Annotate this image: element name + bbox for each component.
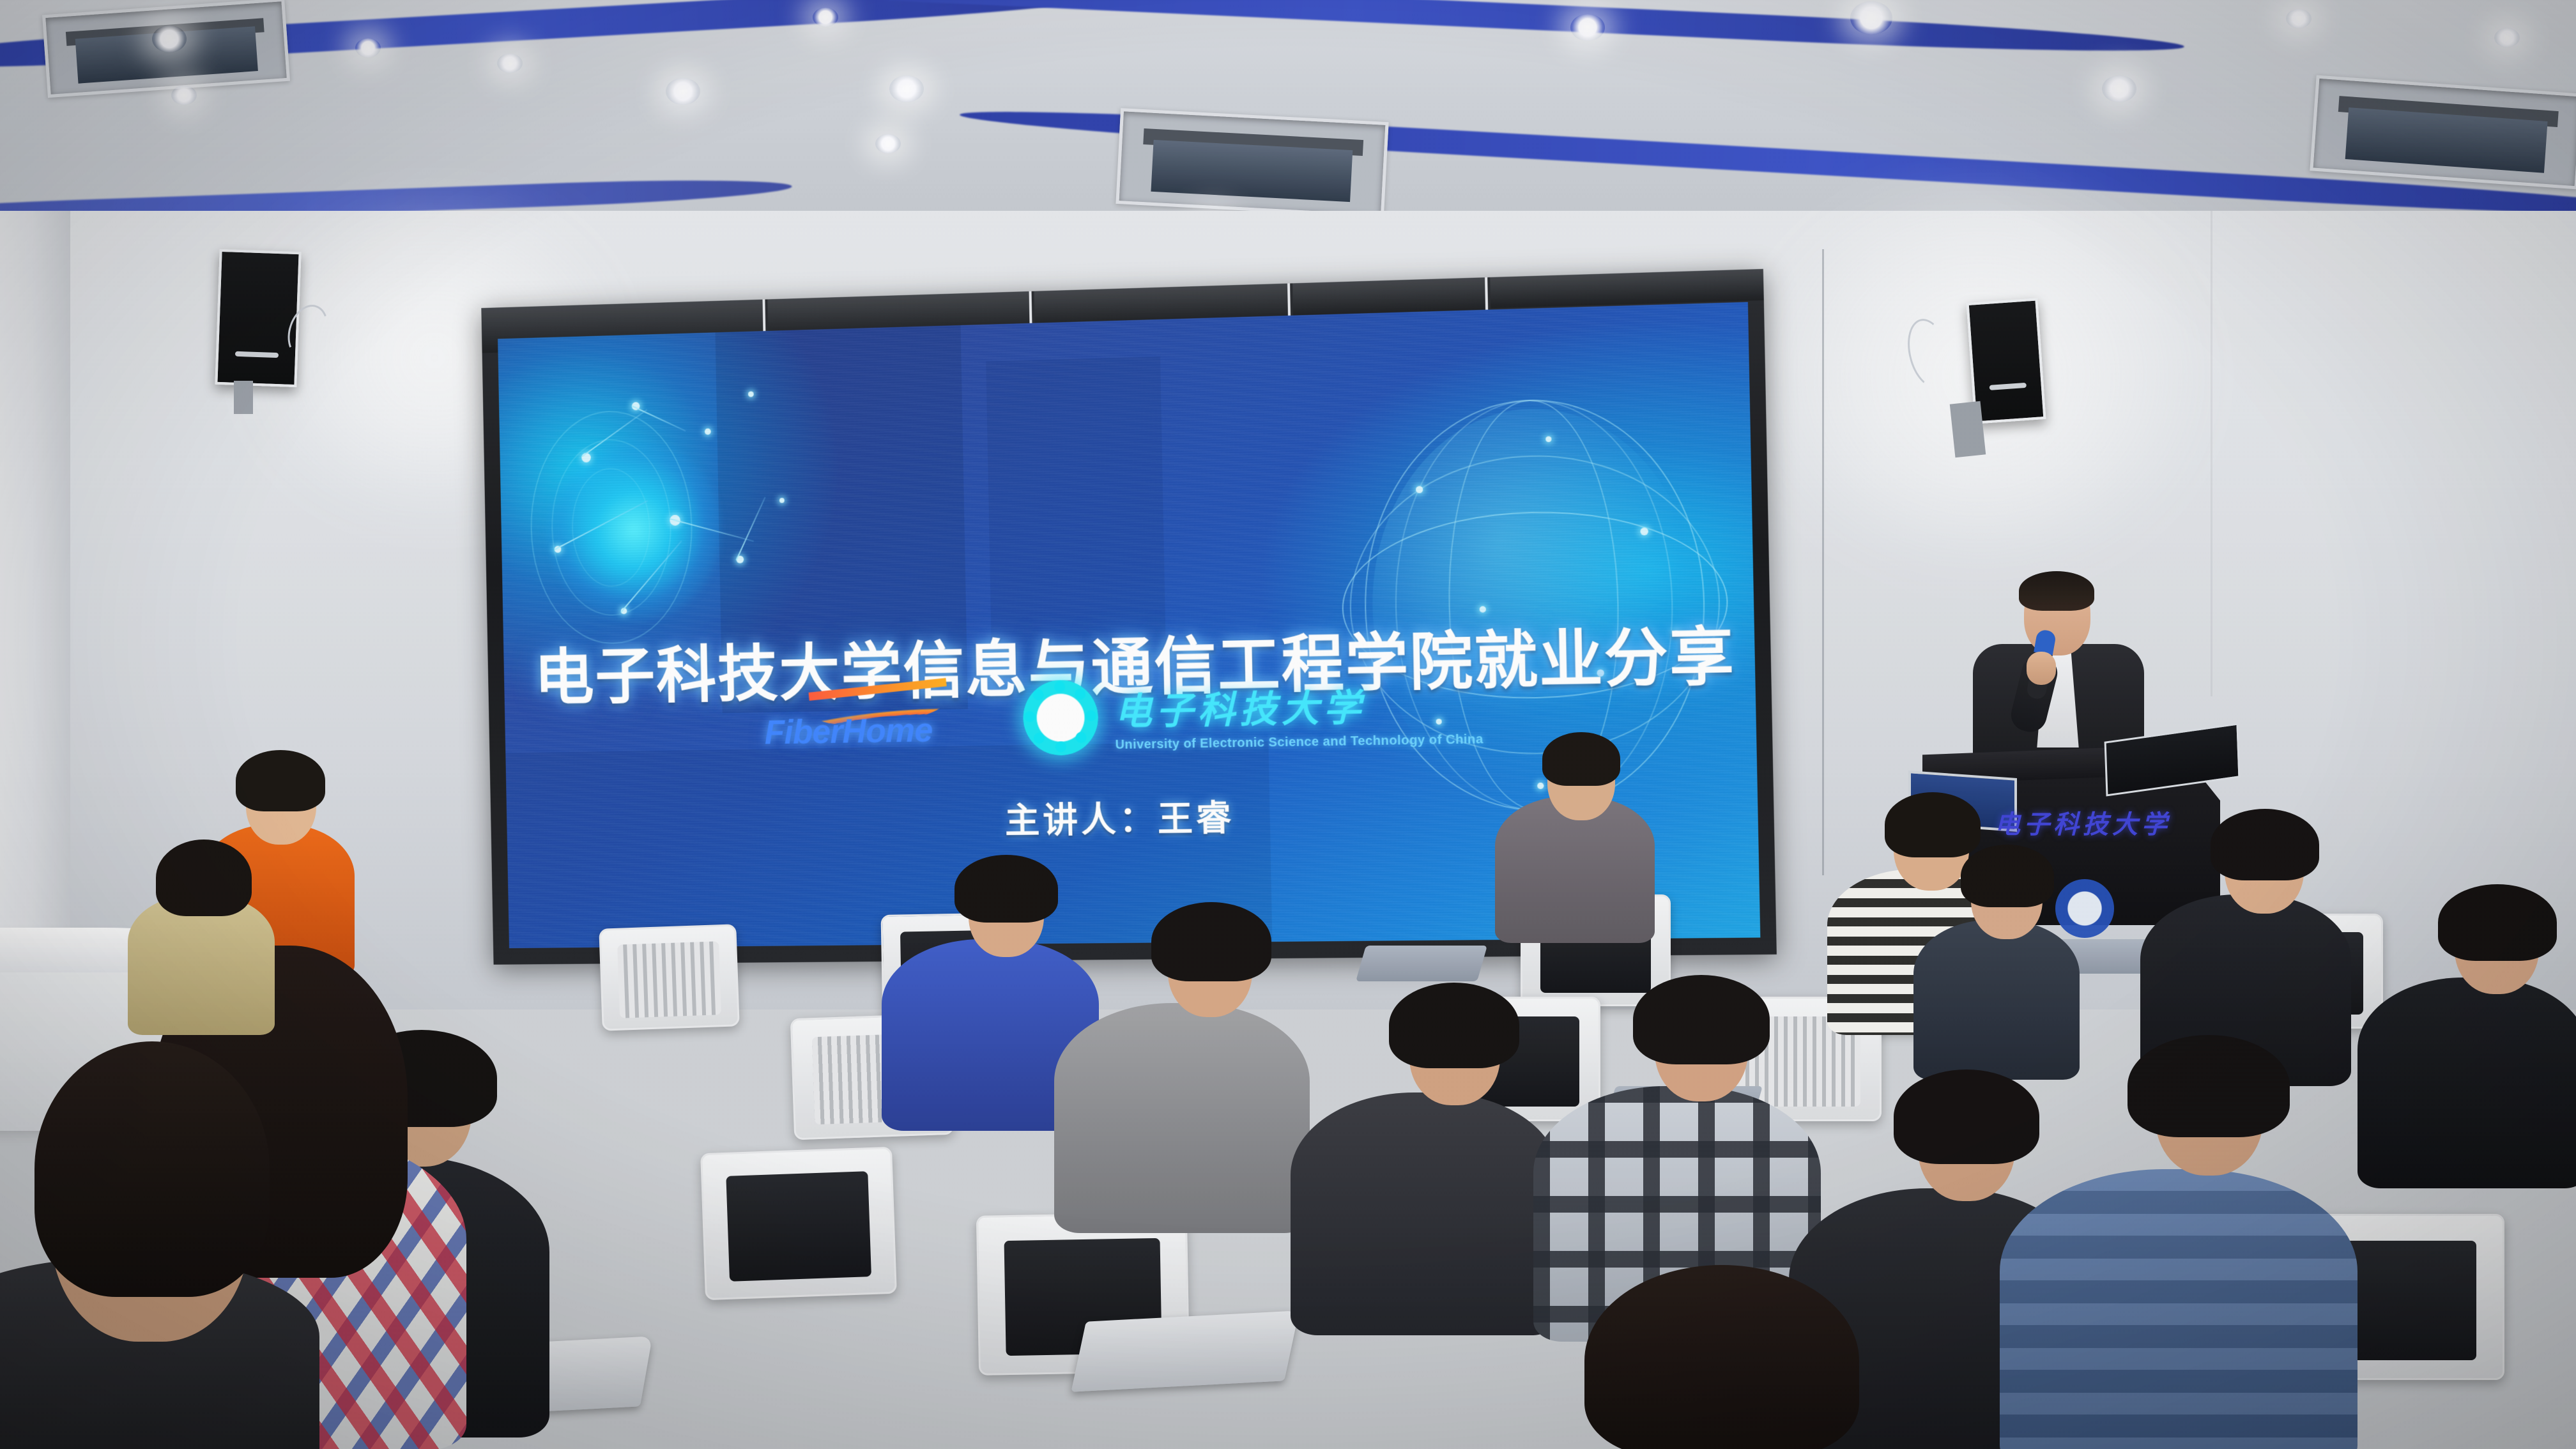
ceiling-light xyxy=(813,8,838,27)
podium-laptop xyxy=(2104,723,2241,796)
podium-engraving: 电子科技大学 xyxy=(1965,804,2201,841)
chair-tablet-arm xyxy=(1071,1310,1299,1391)
uestc-name-cn: 电子科技大学 xyxy=(1114,675,1483,735)
ceiling-light xyxy=(875,134,901,153)
ceiling-light xyxy=(2494,28,2520,47)
fiberhome-wordmark: FiberHome xyxy=(764,711,933,753)
uestc-logo: 电子科技大学 University of Electronic Science … xyxy=(1022,673,1483,756)
speaker-bracket-left xyxy=(234,381,253,414)
ceiling-light xyxy=(666,78,700,105)
chair-tablet-arm xyxy=(1356,946,1487,981)
wall-speaker-left xyxy=(215,249,301,387)
uestc-seal-icon xyxy=(1022,680,1099,756)
lecture-hall-photo: 电子科技大学信息与通信工程学院就业分享 FiberHome xyxy=(0,0,2576,1449)
ceiling-light xyxy=(2286,9,2311,28)
ceiling-light xyxy=(1570,14,1605,41)
chair xyxy=(599,924,739,1031)
presenter-hair xyxy=(2019,571,2094,611)
ac-vent xyxy=(1115,108,1388,218)
ac-vent xyxy=(2310,75,2576,190)
uestc-name-en: University of Electronic Science and Tec… xyxy=(1115,732,1483,753)
ceiling-light xyxy=(497,54,523,73)
fiberhome-logo: FiberHome xyxy=(760,681,968,760)
ceiling-light xyxy=(355,38,381,57)
ceiling-light xyxy=(889,75,924,102)
ceiling-light xyxy=(1850,1,1892,34)
podium-seal-icon xyxy=(2055,879,2114,938)
ceiling-light xyxy=(171,86,197,105)
ceiling-light xyxy=(152,26,187,52)
speaker-bracket-right xyxy=(1950,401,1986,458)
chair xyxy=(700,1147,897,1300)
presenter-hand xyxy=(2027,652,2056,685)
ceiling-light xyxy=(2102,75,2136,102)
